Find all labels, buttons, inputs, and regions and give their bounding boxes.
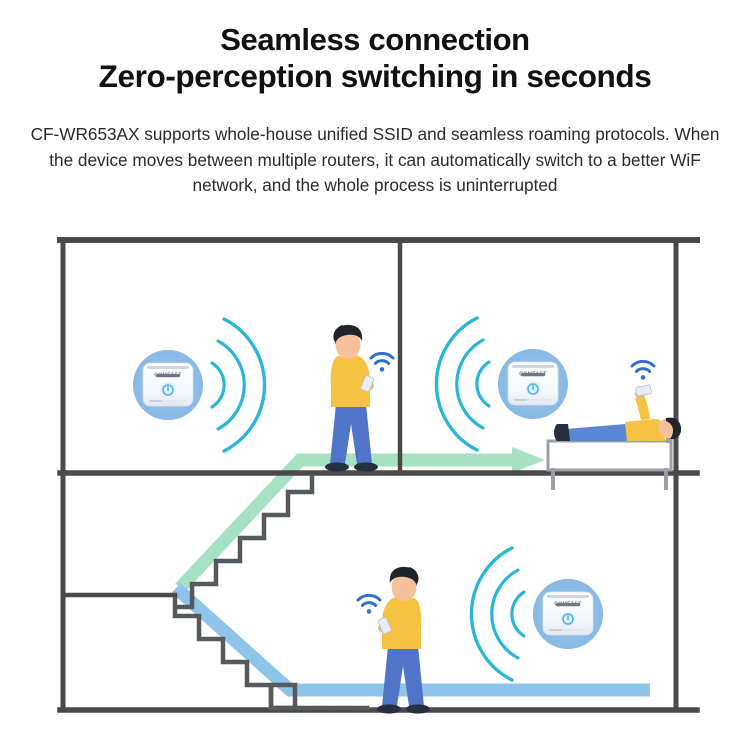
person-standing-upper [325, 325, 393, 472]
wifi-waves-lower-right [471, 548, 524, 680]
router-brand-label: COMFAST [154, 373, 182, 379]
page-subtitle: CF-WR653AX supports whole-house unified … [30, 122, 720, 199]
router-brand-label: COMFAST [554, 602, 582, 608]
staircase [175, 475, 312, 708]
headline-line-1: Seamless connection [220, 22, 529, 57]
router-brand-label: COMFAST [519, 372, 547, 378]
router-lower-right: COMFAST [533, 579, 603, 649]
router-upper-left: COMFAST [133, 350, 203, 420]
person-lying-bed [554, 361, 681, 441]
house-illustration-svg: COMFAST COMFAST COMFAST [0, 228, 750, 728]
page-headline: Seamless connection Zero-perception swit… [0, 22, 750, 94]
headline-line-2: Zero-perception switching in seconds [0, 58, 750, 94]
promo-page: Seamless connection Zero-perception swit… [0, 0, 750, 750]
wifi-waves-upper-left [212, 319, 265, 451]
wifi-waves-upper-right [436, 318, 489, 450]
router-upper-right: COMFAST [498, 349, 568, 419]
house-structure [60, 240, 697, 710]
house-illustration: COMFAST COMFAST COMFAST [0, 228, 750, 728]
